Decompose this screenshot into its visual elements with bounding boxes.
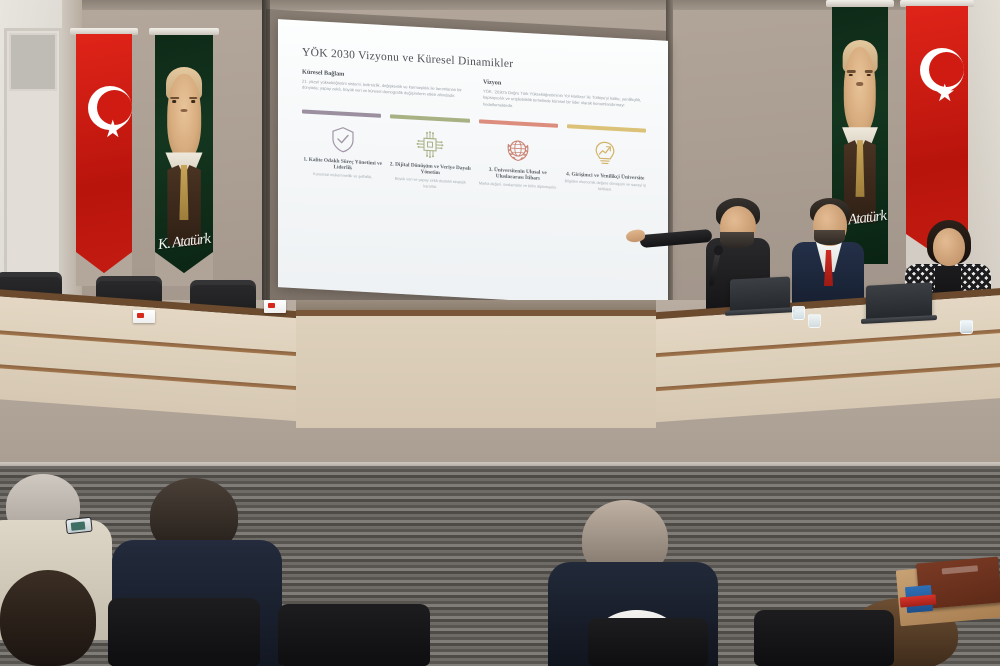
color-bar-gold — [567, 124, 646, 132]
portrait-eye-left — [173, 100, 177, 103]
ataturk-signature: K. Atatürk — [157, 231, 211, 254]
notebook-label — [941, 566, 978, 575]
portrait-eye-right — [191, 100, 195, 103]
portrait-face — [167, 74, 201, 160]
flag-body: ★ — [76, 34, 132, 286]
pillar-reputation: 3. Üniversitenin Ulusal ve Uluslararası … — [477, 130, 559, 197]
slide-column-vision: Vizyon YÖK, '2030'a Doğru Türk Yükseköğr… — [483, 79, 646, 117]
portrait-mouth — [856, 82, 863, 86]
smartphone[interactable] — [65, 517, 92, 535]
audience-head-front-left — [0, 570, 96, 666]
globe-laurel-icon — [477, 130, 559, 169]
pillar-subtitle: Bilgiden ekonomik değere dönüşüm ve sana… — [565, 180, 647, 195]
conference-hall-scene: ★ K. Atatürk — [0, 0, 1000, 666]
presentation-slide: YÖK 2030 Vizyonu ve Küresel Dinamikler K… — [278, 19, 668, 309]
panel-desk-left — [0, 289, 300, 422]
auditorium-seat[interactable] — [754, 610, 894, 666]
pillar-entrepreneurial: 4. Girişimci ve Yenilikçi Üniversite Bil… — [565, 135, 647, 202]
lightbulb-growth-icon — [565, 135, 647, 174]
portrait-brow-left — [171, 97, 180, 100]
door-frame — [4, 28, 62, 278]
star-icon: ★ — [102, 118, 124, 142]
desk-groove — [650, 362, 1000, 391]
portrait-face — [844, 47, 876, 135]
slide-column-context: Küresel Bağlam 21. yüzyıl yükseköğretim … — [302, 68, 465, 106]
center-beard — [814, 230, 845, 245]
shield-check-icon — [302, 120, 384, 159]
auditorium-seat[interactable] — [278, 604, 430, 666]
laptop-left[interactable] — [730, 276, 790, 311]
right-head — [933, 228, 965, 266]
color-bar-mauve — [302, 109, 381, 117]
pillar-quality: 1. Kalite Odaklı Süreç Yönetimi ve Lider… — [302, 120, 384, 187]
desk-groove — [650, 328, 1000, 357]
podium-front-panel — [296, 310, 656, 428]
water-glass[interactable] — [808, 314, 821, 328]
projection-screen: YÖK 2030 Vizyonu ve Küresel Dinamikler K… — [278, 19, 668, 309]
auditorium-seat[interactable] — [588, 618, 708, 666]
laptop-right[interactable] — [866, 282, 932, 319]
turkish-flag-banner-left: ★ — [76, 34, 132, 286]
auditorium-seat[interactable] — [108, 598, 260, 666]
name-card-stage — [264, 300, 286, 313]
desk-groove — [0, 330, 300, 357]
water-glass[interactable] — [960, 320, 973, 334]
color-bar-coral — [479, 119, 558, 127]
ataturk-portrait-banner-left: K. Atatürk — [155, 34, 213, 286]
portrait-mouth — [180, 109, 187, 112]
portrait-brow-right — [865, 70, 873, 73]
name-card-left — [133, 310, 155, 323]
pillar-digital: 2. Dijital Dönüşüm ve Veriye Dayalı Yöne… — [390, 125, 472, 192]
portrait-brow-right — [189, 97, 198, 100]
portrait-brow-left — [847, 70, 855, 73]
pillar-subtitle: Büyük veri ve yapay zekâ destekli strate… — [390, 177, 472, 192]
color-bar-sage — [390, 114, 469, 122]
microchip-icon — [390, 125, 472, 164]
slide-columns: Küresel Bağlam 21. yüzyıl yükseköğretim … — [302, 68, 646, 116]
star-icon: ★ — [934, 82, 956, 106]
portrait-eye-right — [867, 74, 871, 77]
portrait-body: K. Atatürk — [155, 34, 213, 286]
desk-groove — [0, 364, 300, 391]
door-window — [9, 33, 57, 91]
speaker-beard — [720, 232, 754, 248]
pillar-row: 1. Kalite Odaklı Süreç Yönetimi ve Lider… — [302, 120, 646, 202]
water-glass[interactable] — [792, 306, 805, 320]
portrait-eye-left — [849, 74, 853, 77]
